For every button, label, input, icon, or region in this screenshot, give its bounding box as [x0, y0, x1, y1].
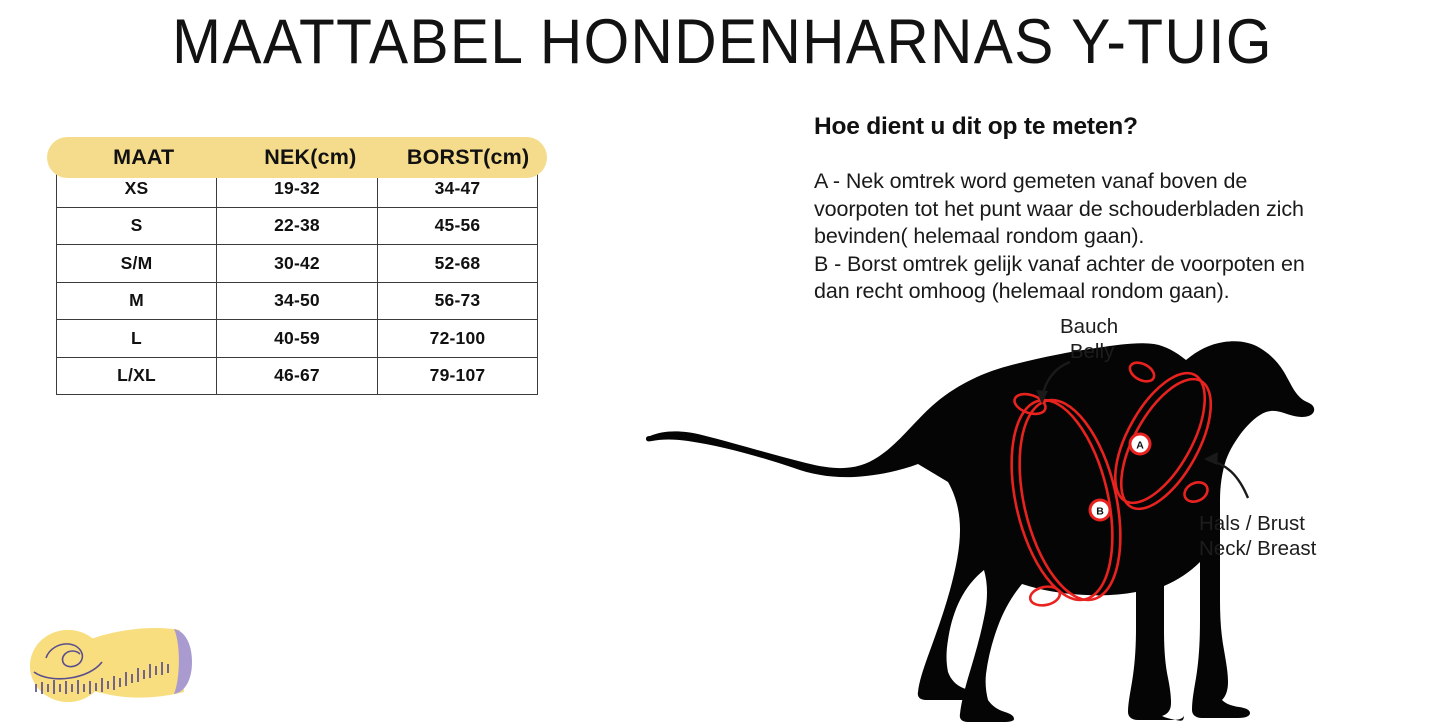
cell-size: L/XL	[57, 357, 217, 395]
marker-b-badge: B	[1089, 499, 1112, 522]
table-header-row: MAAT NEK(cm) BORST(cm)	[47, 137, 547, 178]
label-neck-en: Neck/ Breast	[1199, 536, 1316, 561]
measuring-tape-icon	[22, 612, 202, 717]
label-neck-de: Hals / Brust	[1199, 511, 1316, 536]
instruction-line-b: B - Borst omtrek gelijk vanaf achter de …	[814, 251, 1334, 306]
column-header-borst: BORST(cm)	[389, 145, 547, 170]
label-belly-en: Belly	[1060, 339, 1118, 364]
measuring-instructions: Hoe dient u dit op te meten? A - Nek omt…	[814, 113, 1334, 306]
cell-size: L	[57, 320, 217, 358]
cell-chest: 52-68	[378, 245, 538, 283]
table-row: S 22-38 45-56	[57, 207, 538, 245]
marker-a-badge: A	[1129, 433, 1152, 456]
table-row: L/XL 46-67 79-107	[57, 357, 538, 395]
cell-size: S/M	[57, 245, 217, 283]
svg-text:A: A	[1136, 440, 1144, 452]
cell-chest: 79-107	[378, 357, 538, 395]
page-title: MAATTABEL HONDENHARNAS Y-TUIG	[51, 6, 1395, 78]
cell-neck: 40-59	[217, 320, 378, 358]
cell-chest: 45-56	[378, 207, 538, 245]
cell-chest: 72-100	[378, 320, 538, 358]
svg-text:B: B	[1096, 506, 1104, 518]
instructions-heading: Hoe dient u dit op te meten?	[814, 113, 1334, 141]
label-neck: Hals / Brust Neck/ Breast	[1199, 511, 1316, 561]
column-header-nek: NEK(cm)	[232, 145, 390, 170]
column-header-maat: MAAT	[56, 145, 232, 170]
size-table-body: XS 19-32 34-47 S 22-38 45-56 S/M 30-42 5…	[56, 170, 538, 395]
cell-size: S	[57, 207, 217, 245]
cell-neck: 30-42	[217, 245, 378, 283]
table-row: M 34-50 56-73	[57, 282, 538, 320]
cell-chest: 56-73	[378, 282, 538, 320]
cell-neck: 34-50	[217, 282, 378, 320]
table-row: S/M 30-42 52-68	[57, 245, 538, 283]
instruction-line-a: A - Nek omtrek word gemeten vanaf boven …	[814, 168, 1334, 251]
table-row: L 40-59 72-100	[57, 320, 538, 358]
cell-size: M	[57, 282, 217, 320]
label-belly: Bauch Belly	[1060, 314, 1118, 364]
cell-neck: 46-67	[217, 357, 378, 395]
cell-neck: 22-38	[217, 207, 378, 245]
label-belly-de: Bauch	[1060, 314, 1118, 339]
